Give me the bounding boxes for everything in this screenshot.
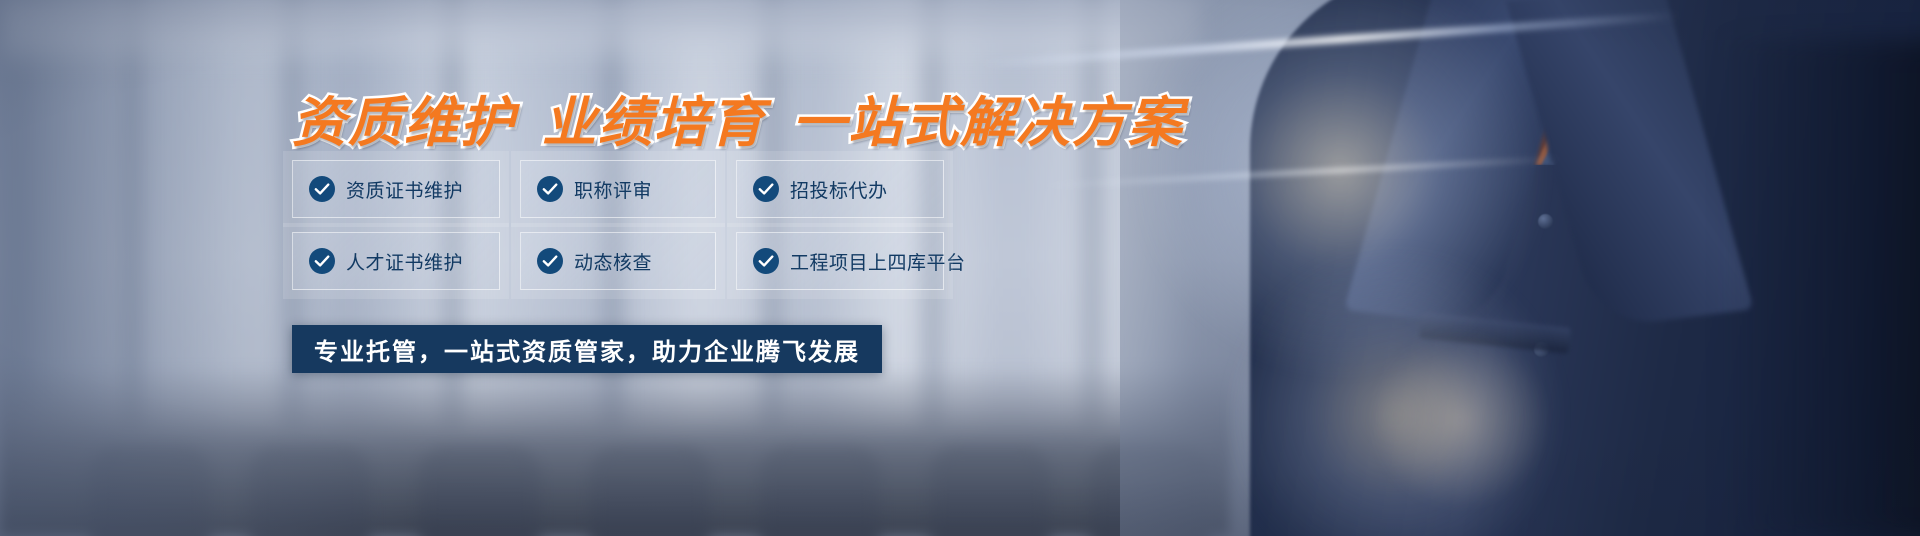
check-circle-icon [309, 176, 335, 202]
feature-card-label: 招投标代办 [790, 176, 888, 203]
check-circle-icon [753, 248, 779, 274]
hero-banner: 资质维护业绩培育一站式解决方案 资质证书维护 职称评审 [0, 0, 1920, 536]
headline-part-1: 资质维护 [292, 93, 516, 153]
headline-part-2: 业绩培育 [542, 93, 766, 153]
check-circle-icon [753, 176, 779, 202]
feature-card-row-1: 资质证书维护 职称评审 招投标代办 [292, 160, 972, 218]
feature-card-project-four-database-platform[interactable]: 工程项目上四库平台 [736, 232, 944, 290]
feature-card-row-2: 人才证书维护 动态核查 工程项目上四库平台 [292, 232, 972, 290]
banner-headline: 资质维护业绩培育一站式解决方案 [292, 78, 1184, 157]
tagline-bar: 专业托管，一站式资质管家，助力企业腾飞发展 [292, 325, 882, 373]
feature-card-title-evaluation[interactable]: 职称评审 [520, 160, 716, 218]
feature-card-grid: 资质证书维护 职称评审 招投标代办 [292, 160, 972, 304]
feature-card-dynamic-inspection[interactable]: 动态核查 [520, 232, 716, 290]
feature-card-qualification-certificate-maintenance[interactable]: 资质证书维护 [292, 160, 500, 218]
check-circle-icon [309, 248, 335, 274]
feature-card-label: 资质证书维护 [346, 176, 463, 203]
feature-card-label: 工程项目上四库平台 [790, 248, 966, 275]
feature-card-bidding-agency[interactable]: 招投标代办 [736, 160, 944, 218]
banner-content: 资质维护业绩培育一站式解决方案 资质证书维护 职称评审 [0, 0, 1920, 536]
feature-card-label: 动态核查 [574, 248, 652, 275]
feature-card-label: 职称评审 [574, 176, 652, 203]
tagline-text: 专业托管，一站式资质管家，助力企业腾飞发展 [314, 332, 860, 367]
feature-card-label: 人才证书维护 [346, 248, 463, 275]
check-circle-icon [537, 248, 563, 274]
headline-part-3: 一站式解决方案 [792, 93, 1184, 153]
check-circle-icon [537, 176, 563, 202]
feature-card-talent-certificate-maintenance[interactable]: 人才证书维护 [292, 232, 500, 290]
